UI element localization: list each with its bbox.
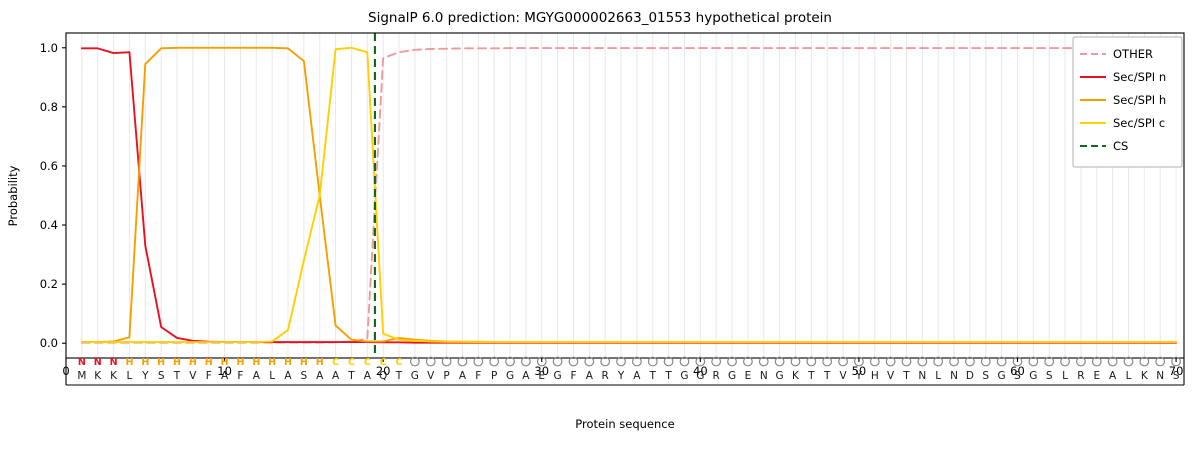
sequence-residue: K bbox=[792, 370, 800, 382]
y-tick-label: 0.2 bbox=[40, 277, 58, 291]
sequence-residue: G bbox=[696, 370, 704, 382]
sequence-residue: G bbox=[1029, 370, 1037, 382]
region-marker-h: H bbox=[173, 357, 181, 368]
sequence-residue: K bbox=[110, 370, 118, 382]
y-axis-label: Probability bbox=[6, 165, 20, 226]
sequence-residue: G bbox=[998, 370, 1006, 382]
x-axis-label: Protein sequence bbox=[575, 417, 674, 431]
sequence-residue: V bbox=[189, 370, 197, 382]
sequence-residue: A bbox=[284, 370, 292, 382]
sequence-residue: A bbox=[253, 370, 261, 382]
legend-label: Sec/SPI h bbox=[1113, 93, 1166, 107]
region-marker-h: H bbox=[157, 357, 165, 368]
legend-label: Sec/SPI c bbox=[1113, 116, 1165, 130]
sequence-residue: G bbox=[506, 370, 514, 382]
region-marker-h: H bbox=[205, 357, 213, 368]
region-marker-h: H bbox=[236, 357, 244, 368]
sequence-residue: T bbox=[823, 370, 831, 382]
chart-legend[interactable]: OTHERSec/SPI nSec/SPI hSec/SPI cCS bbox=[1073, 37, 1182, 167]
legend-label: Sec/SPI n bbox=[1113, 70, 1166, 84]
sequence-residue: S bbox=[1046, 370, 1053, 382]
sequence-residue: F bbox=[237, 370, 243, 382]
region-marker-h: H bbox=[268, 357, 276, 368]
region-marker-h: H bbox=[252, 357, 260, 368]
sequence-residue: K bbox=[1141, 370, 1149, 382]
region-marker-h: H bbox=[316, 357, 324, 368]
region-marker-c: C bbox=[380, 357, 387, 368]
sequence-residue: F bbox=[206, 370, 212, 382]
region-marker-n: N bbox=[94, 357, 102, 368]
sequence-residue: S bbox=[1173, 370, 1180, 382]
sequence-residue: T bbox=[173, 370, 181, 382]
sequence-residue: A bbox=[1109, 370, 1117, 382]
sequence-residue: N bbox=[1156, 370, 1164, 382]
region-marker-h: H bbox=[221, 357, 229, 368]
sequence-residue: Y bbox=[617, 370, 625, 382]
figure-background bbox=[0, 0, 1200, 450]
region-marker-h: H bbox=[141, 357, 149, 368]
sequence-residue: S bbox=[982, 370, 989, 382]
sequence-residue: N bbox=[760, 370, 768, 382]
sequence-residue: A bbox=[221, 370, 229, 382]
sequence-residue: T bbox=[395, 370, 403, 382]
region-marker-h: H bbox=[189, 357, 197, 368]
region-marker-n: N bbox=[110, 357, 118, 368]
region-marker-c: C bbox=[348, 357, 355, 368]
sequence-residue: M bbox=[77, 370, 86, 382]
sequence-residue: A bbox=[633, 370, 641, 382]
sequence-residue: G bbox=[776, 370, 784, 382]
chart-canvas: SignalP 6.0 prediction: MGYG000002663_01… bbox=[0, 0, 1200, 450]
sequence-residue: N bbox=[950, 370, 958, 382]
sequence-residue: L bbox=[1062, 370, 1068, 382]
sequence-residue: Q bbox=[379, 370, 387, 382]
sequence-residue: A bbox=[586, 370, 594, 382]
sequence-residue: G bbox=[411, 370, 419, 382]
region-marker-c: C bbox=[332, 357, 339, 368]
region-marker-c: C bbox=[364, 357, 371, 368]
sequence-residue: G bbox=[554, 370, 562, 382]
sequence-residue: V bbox=[839, 370, 847, 382]
signalp-prediction-figure: SignalP 6.0 prediction: MGYG000002663_01… bbox=[0, 0, 1200, 450]
sequence-residue: T bbox=[649, 370, 657, 382]
sequence-residue: S bbox=[158, 370, 165, 382]
sequence-residue: R bbox=[1077, 370, 1084, 382]
sequence-residue: A bbox=[459, 370, 467, 382]
sequence-residue: R bbox=[602, 370, 609, 382]
sequence-residue: G bbox=[680, 370, 688, 382]
y-tick-label: 0.4 bbox=[40, 218, 58, 232]
sequence-residue: H bbox=[871, 370, 879, 382]
sequence-residue: Y bbox=[855, 370, 863, 382]
sequence-residue: T bbox=[347, 370, 355, 382]
y-tick-label: 0.6 bbox=[40, 159, 58, 173]
sequence-residue: V bbox=[887, 370, 895, 382]
sequence-residue: T bbox=[664, 370, 672, 382]
sequence-residue: L bbox=[269, 370, 275, 382]
sequence-residue: N bbox=[918, 370, 926, 382]
sequence-residue: E bbox=[745, 370, 752, 382]
sequence-residue: F bbox=[570, 370, 576, 382]
y-tick-label: 0.8 bbox=[40, 100, 58, 114]
region-marker-h: H bbox=[284, 357, 292, 368]
sequence-residue: A bbox=[316, 370, 324, 382]
sequence-residue: A bbox=[332, 370, 340, 382]
y-tick-label: 0.0 bbox=[40, 336, 58, 350]
sequence-residue: D bbox=[966, 370, 974, 382]
region-marker-c: C bbox=[396, 357, 403, 368]
sequence-residue: E bbox=[1093, 370, 1100, 382]
sequence-residue: F bbox=[475, 370, 481, 382]
legend-label: CS bbox=[1113, 139, 1128, 153]
legend-label: OTHER bbox=[1113, 47, 1153, 61]
sequence-residue: L bbox=[935, 370, 941, 382]
region-marker-n: N bbox=[78, 357, 86, 368]
sequence-residue: K bbox=[94, 370, 102, 382]
sequence-residue: R bbox=[713, 370, 720, 382]
sequence-residue: P bbox=[491, 370, 497, 382]
sequence-residue: Y bbox=[141, 370, 149, 382]
sequence-residue: L bbox=[1126, 370, 1132, 382]
region-marker-h: H bbox=[300, 357, 308, 368]
sequence-residue: E bbox=[538, 370, 545, 382]
y-tick-label: 1.0 bbox=[40, 41, 58, 55]
sequence-residue: A bbox=[522, 370, 530, 382]
region-marker-h: H bbox=[125, 357, 133, 368]
sequence-residue: T bbox=[807, 370, 815, 382]
sequence-residue: S bbox=[1014, 370, 1021, 382]
chart-title: SignalP 6.0 prediction: MGYG000002663_01… bbox=[368, 10, 832, 26]
sequence-residue: P bbox=[443, 370, 449, 382]
sequence-residue: G bbox=[728, 370, 736, 382]
sequence-residue: T bbox=[902, 370, 910, 382]
sequence-residue: A bbox=[364, 370, 372, 382]
sequence-residue: V bbox=[427, 370, 435, 382]
sequence-residue: S bbox=[301, 370, 308, 382]
sequence-residue: L bbox=[127, 370, 133, 382]
